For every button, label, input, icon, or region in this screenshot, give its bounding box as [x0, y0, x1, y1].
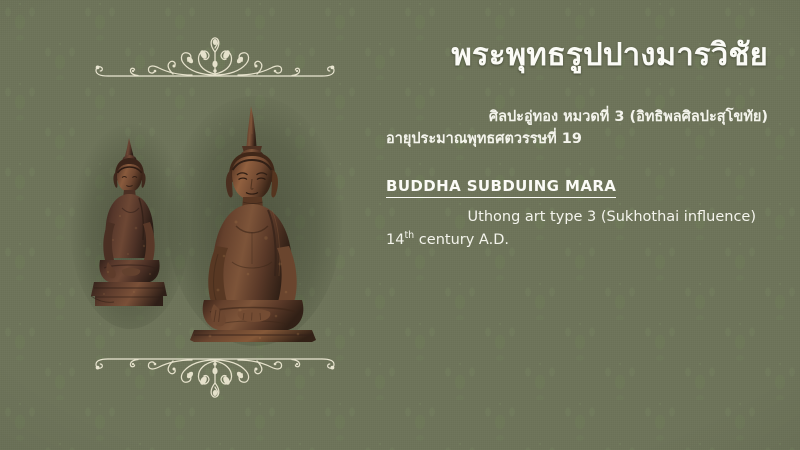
century-ordinal-suffix: th: [404, 230, 414, 241]
large-buddha-statue: [180, 104, 328, 342]
caption-text-column: พระพุทธรูปปางมารวิชัย ศิลปะอู่ทอง หมวดที…: [386, 36, 784, 251]
small-buddha-statue: [84, 136, 178, 321]
artifact-photo-group: [62, 96, 362, 346]
thai-caption-line-2: อายุประมาณพุทธศตวรรษที่ 19: [386, 129, 784, 151]
century-number: 14: [386, 232, 404, 248]
english-caption-line-2: Uthong art type 3 (Sukhothai influence): [386, 206, 784, 228]
english-heading: BUDDHA SUBDUING MARA: [386, 177, 616, 198]
century-rest: century A.D.: [414, 232, 509, 248]
thai-caption-line-1: ศิลปะอู่ทอง หมวดที่ 3 (อิทธิพลศิลปะสุโขท…: [386, 107, 784, 129]
english-heading-row: BUDDHA SUBDUING MARA: [386, 176, 784, 198]
presentation-slide: พระพุทธรูปปางมารวิชัย ศิลปะอู่ทอง หมวดที…: [0, 0, 800, 450]
page-title: พระพุทธรูปปางมารวิชัย: [386, 36, 784, 75]
english-caption-line-3: 14th century A.D.: [386, 229, 784, 251]
